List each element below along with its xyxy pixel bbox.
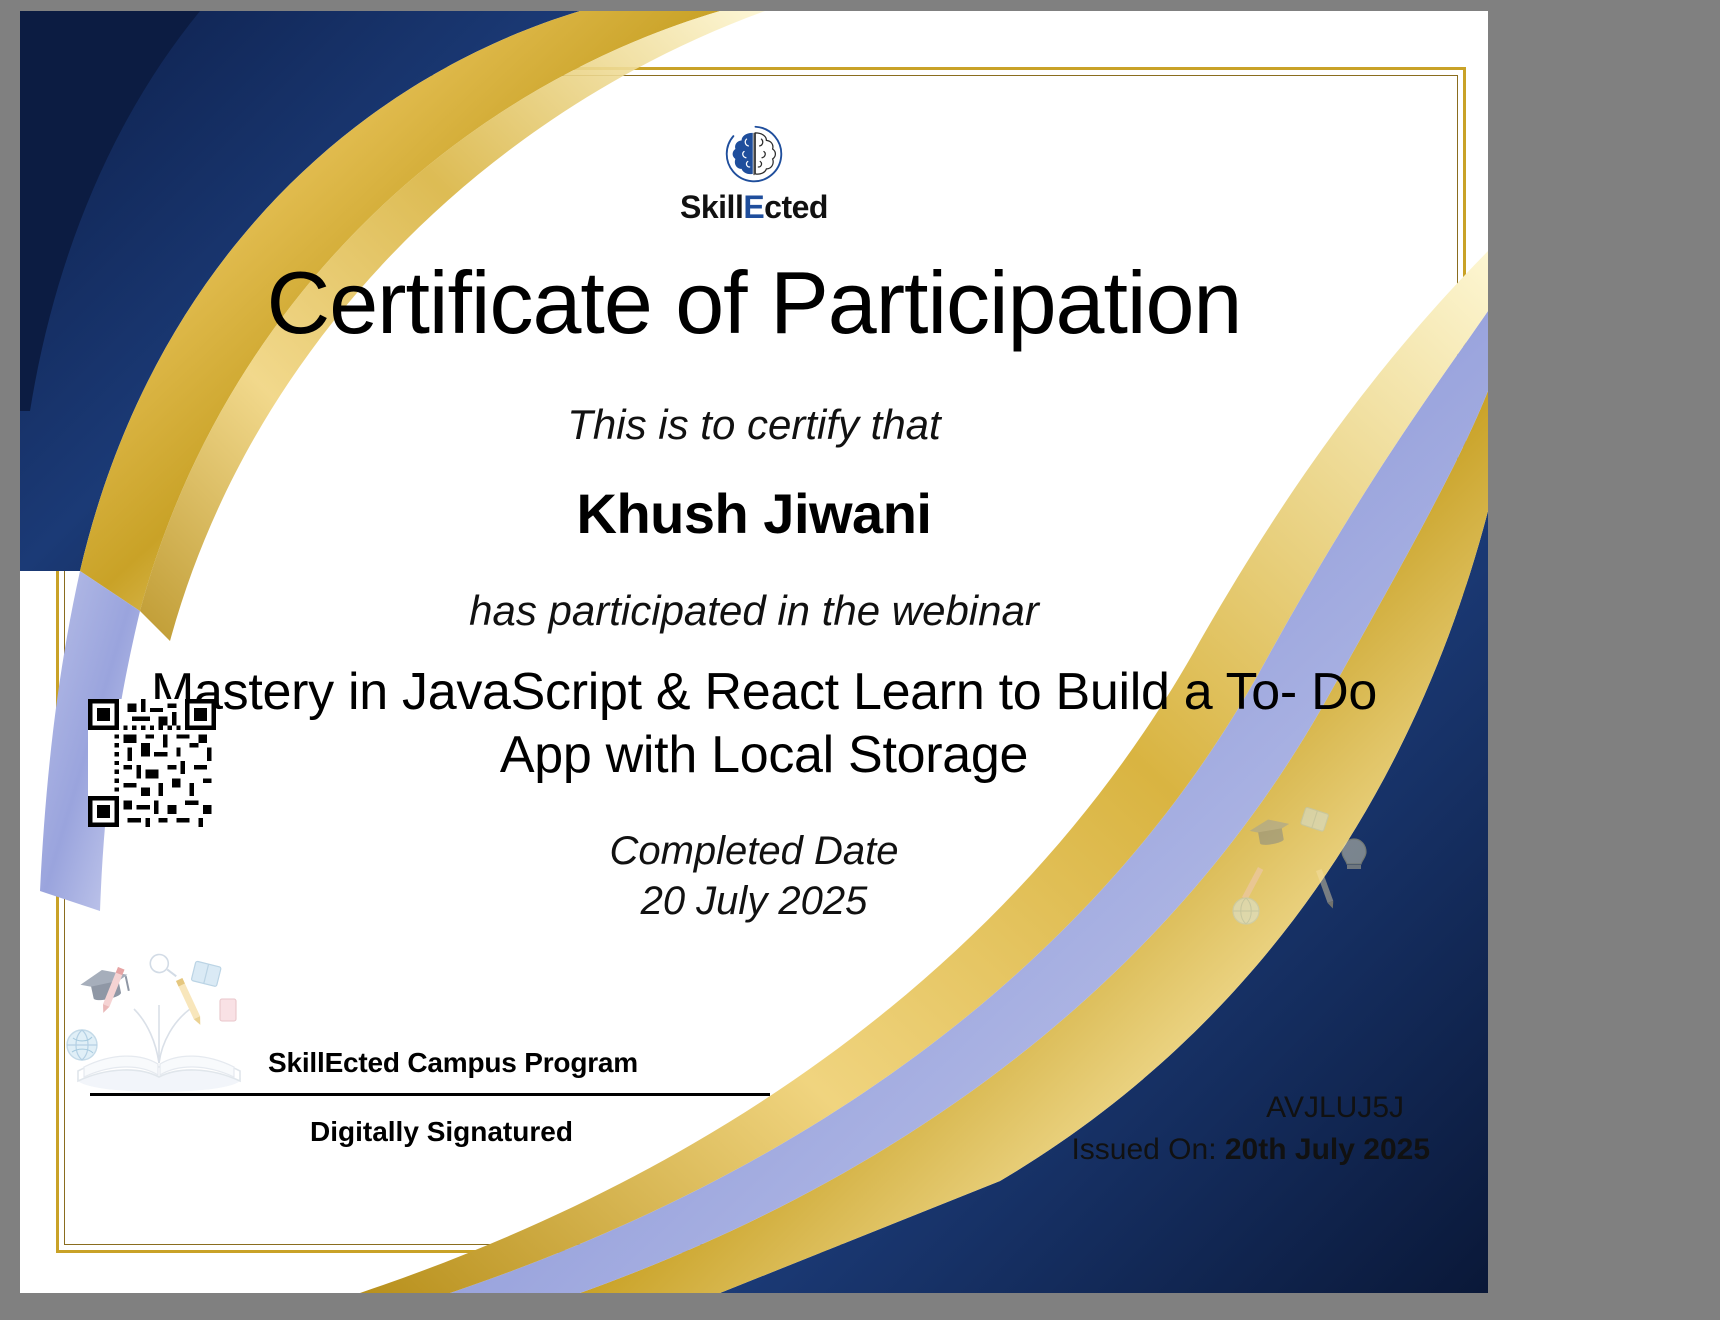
education-deco-right-icon — [1228, 801, 1398, 941]
brand-logo: SkillEcted — [20, 123, 1488, 226]
brand-logo-text: SkillEcted — [20, 189, 1488, 226]
certificate-title: Certificate of Participation — [20, 259, 1488, 347]
signature-caption: Digitally Signatured — [310, 1116, 573, 1148]
logo-text-part2: cted — [764, 189, 828, 225]
logo-text-part1: Skill — [680, 189, 743, 225]
participated-line: has participated in the webinar — [20, 587, 1488, 635]
logo-text-accent: E — [743, 189, 764, 225]
certificate-id: AVJLUJ5J — [1266, 1091, 1404, 1125]
certify-line: This is to certify that — [20, 401, 1488, 449]
issued-on-label: Issued On: — [1071, 1133, 1224, 1166]
brain-icon — [723, 123, 785, 185]
signature-name: SkillEcted Campus Program — [268, 1047, 638, 1079]
certificate-sheet: SkillEcted Certificate of Participation … — [20, 11, 1488, 1293]
webinar-title: Mastery in JavaScript & React Learn to B… — [120, 661, 1408, 788]
open-book-education-icon — [64, 951, 254, 1101]
recipient-name: Khush Jiwani — [20, 481, 1488, 546]
qr-code-icon[interactable] — [88, 699, 216, 827]
issued-on-date: 20th July 2025 — [1225, 1133, 1430, 1166]
page-background: SkillEcted Certificate of Participation … — [0, 0, 1720, 1320]
issued-on-line: Issued On: 20th July 2025 — [1071, 1133, 1430, 1167]
